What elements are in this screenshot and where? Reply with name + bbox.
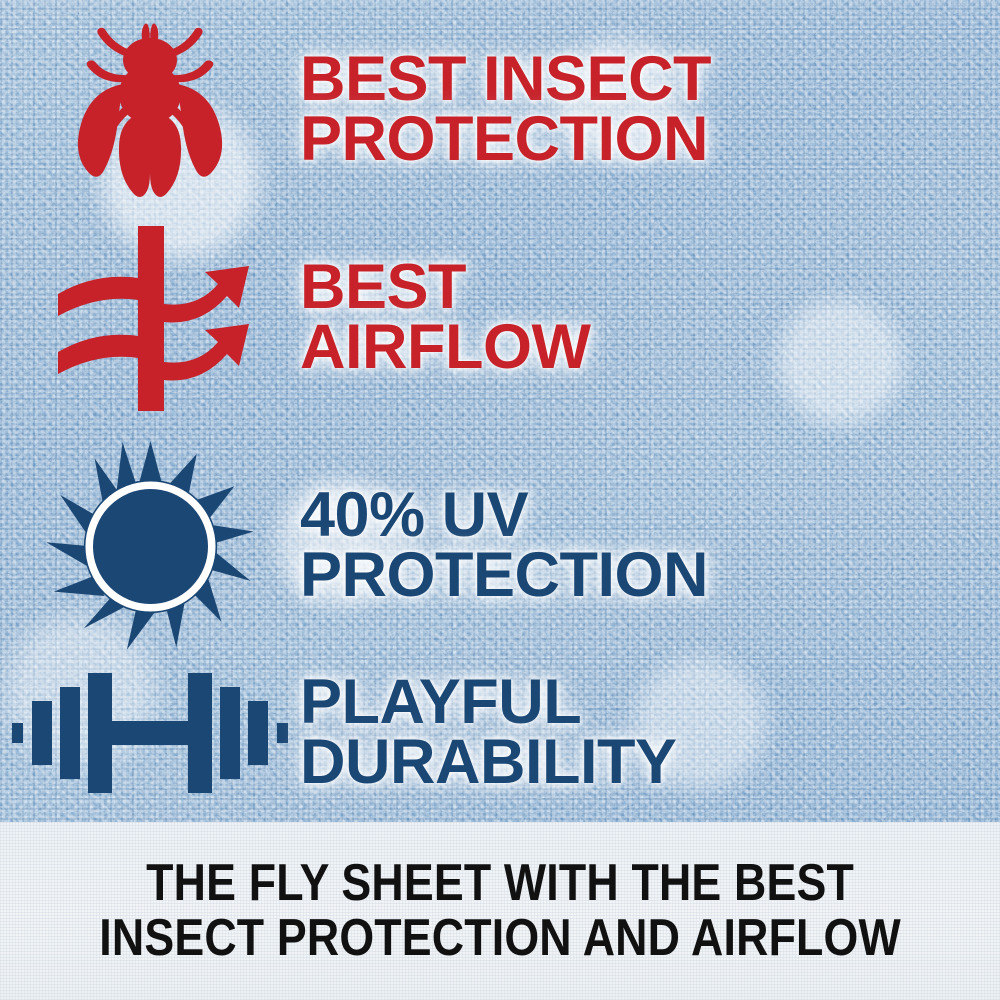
feature-row-insect-protection: BEST INSECT PROTECTION: [0, 10, 1000, 210]
caption-band: THE FLY SHEET WITH THE BEST INSECT PROTE…: [0, 822, 1000, 1000]
feature-headline-airflow: BEST AIRFLOW: [300, 258, 900, 378]
icon-cell-insect: [0, 18, 300, 203]
infographic-poster: BEST INSECT PROTECTION: [0, 0, 1000, 1000]
airflow-arrows-icon: [50, 226, 250, 411]
text-cell-durability: PLAYFUL DURABILITY: [300, 673, 900, 793]
feature-headline-uv-protection: 40% UV PROTECTION: [300, 486, 900, 606]
feature-headline-insect-protection: BEST INSECT PROTECTION: [300, 50, 900, 170]
dumbbell-icon: [10, 668, 290, 798]
icon-cell-uv: [0, 439, 300, 654]
icon-cell-durability: [0, 668, 300, 798]
text-cell-insect: BEST INSECT PROTECTION: [300, 50, 900, 170]
feature-headline-durability: PLAYFUL DURABILITY: [300, 673, 900, 793]
feature-row-airflow: BEST AIRFLOW: [0, 218, 1000, 418]
feature-row-durability: PLAYFUL DURABILITY: [0, 648, 1000, 818]
fly-icon: [75, 18, 225, 203]
sun-icon: [43, 439, 258, 654]
feature-row-uv-protection: 40% UV PROTECTION: [0, 432, 1000, 660]
text-cell-airflow: BEST AIRFLOW: [300, 258, 900, 378]
icon-cell-airflow: [0, 226, 300, 411]
caption-headline: THE FLY SHEET WITH THE BEST INSECT PROTE…: [99, 856, 901, 966]
text-cell-uv: 40% UV PROTECTION: [300, 486, 900, 606]
